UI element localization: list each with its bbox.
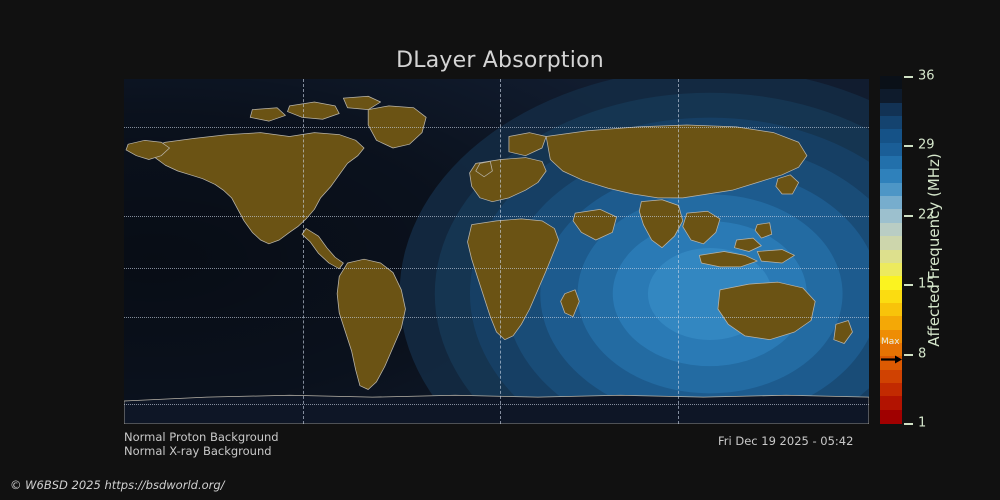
status-xray-background: Normal X-ray Background <box>124 444 272 458</box>
colorbar-segment <box>880 209 902 223</box>
colorbar-segment <box>880 76 902 90</box>
page-title: DLayer Absorption <box>0 48 1000 73</box>
colorbar-axis-label: Affected Frequency (MHz) <box>922 76 946 423</box>
colorbar-segment <box>880 383 902 397</box>
colorbar-segment <box>880 156 902 170</box>
colorbar-gradient <box>880 76 902 423</box>
colorbar-tick <box>904 215 913 217</box>
colorbar-segment <box>880 250 902 264</box>
colorbar[interactable]: 3629221581 Max <box>880 76 902 423</box>
colorbar-segment <box>880 370 902 384</box>
colorbar-segment <box>880 290 902 304</box>
colorbar-segment <box>880 103 902 117</box>
colorbar-segment <box>880 263 902 277</box>
colorbar-tick <box>904 145 913 147</box>
colorbar-tick <box>904 354 913 356</box>
colorbar-segment <box>880 196 902 210</box>
colorbar-tick <box>904 423 913 425</box>
colorbar-segment <box>880 169 902 183</box>
colorbar-segment <box>880 223 902 237</box>
application-window: DLayer Absorption <box>0 0 1000 500</box>
colorbar-tick <box>904 284 913 286</box>
colorbar-segment <box>880 129 902 143</box>
colorbar-segment <box>880 89 902 103</box>
colorbar-segment <box>880 116 902 130</box>
colorbar-segment <box>880 303 902 317</box>
colorbar-segment <box>880 143 902 157</box>
colorbar-max-arrow-icon <box>880 349 902 358</box>
colorbar-segment <box>880 410 902 424</box>
colorbar-max-label: Max <box>880 337 902 347</box>
world-map[interactable] <box>124 79 869 424</box>
colorbar-axis-label-text: Affected Frequency (MHz) <box>925 153 943 347</box>
colorbar-segment <box>880 316 902 330</box>
colorbar-segment <box>880 396 902 410</box>
copyright-notice: © W6BSD 2025 https://bsdworld.org/ <box>10 478 225 492</box>
colorbar-tick <box>904 76 913 78</box>
colorbar-segment <box>880 183 902 197</box>
colorbar-segment <box>880 276 902 290</box>
coastlines-layer <box>124 79 869 424</box>
colorbar-segment <box>880 236 902 250</box>
status-proton-background: Normal Proton Background <box>124 430 279 444</box>
timestamp: Fri Dec 19 2025 - 05:42 <box>718 434 853 448</box>
